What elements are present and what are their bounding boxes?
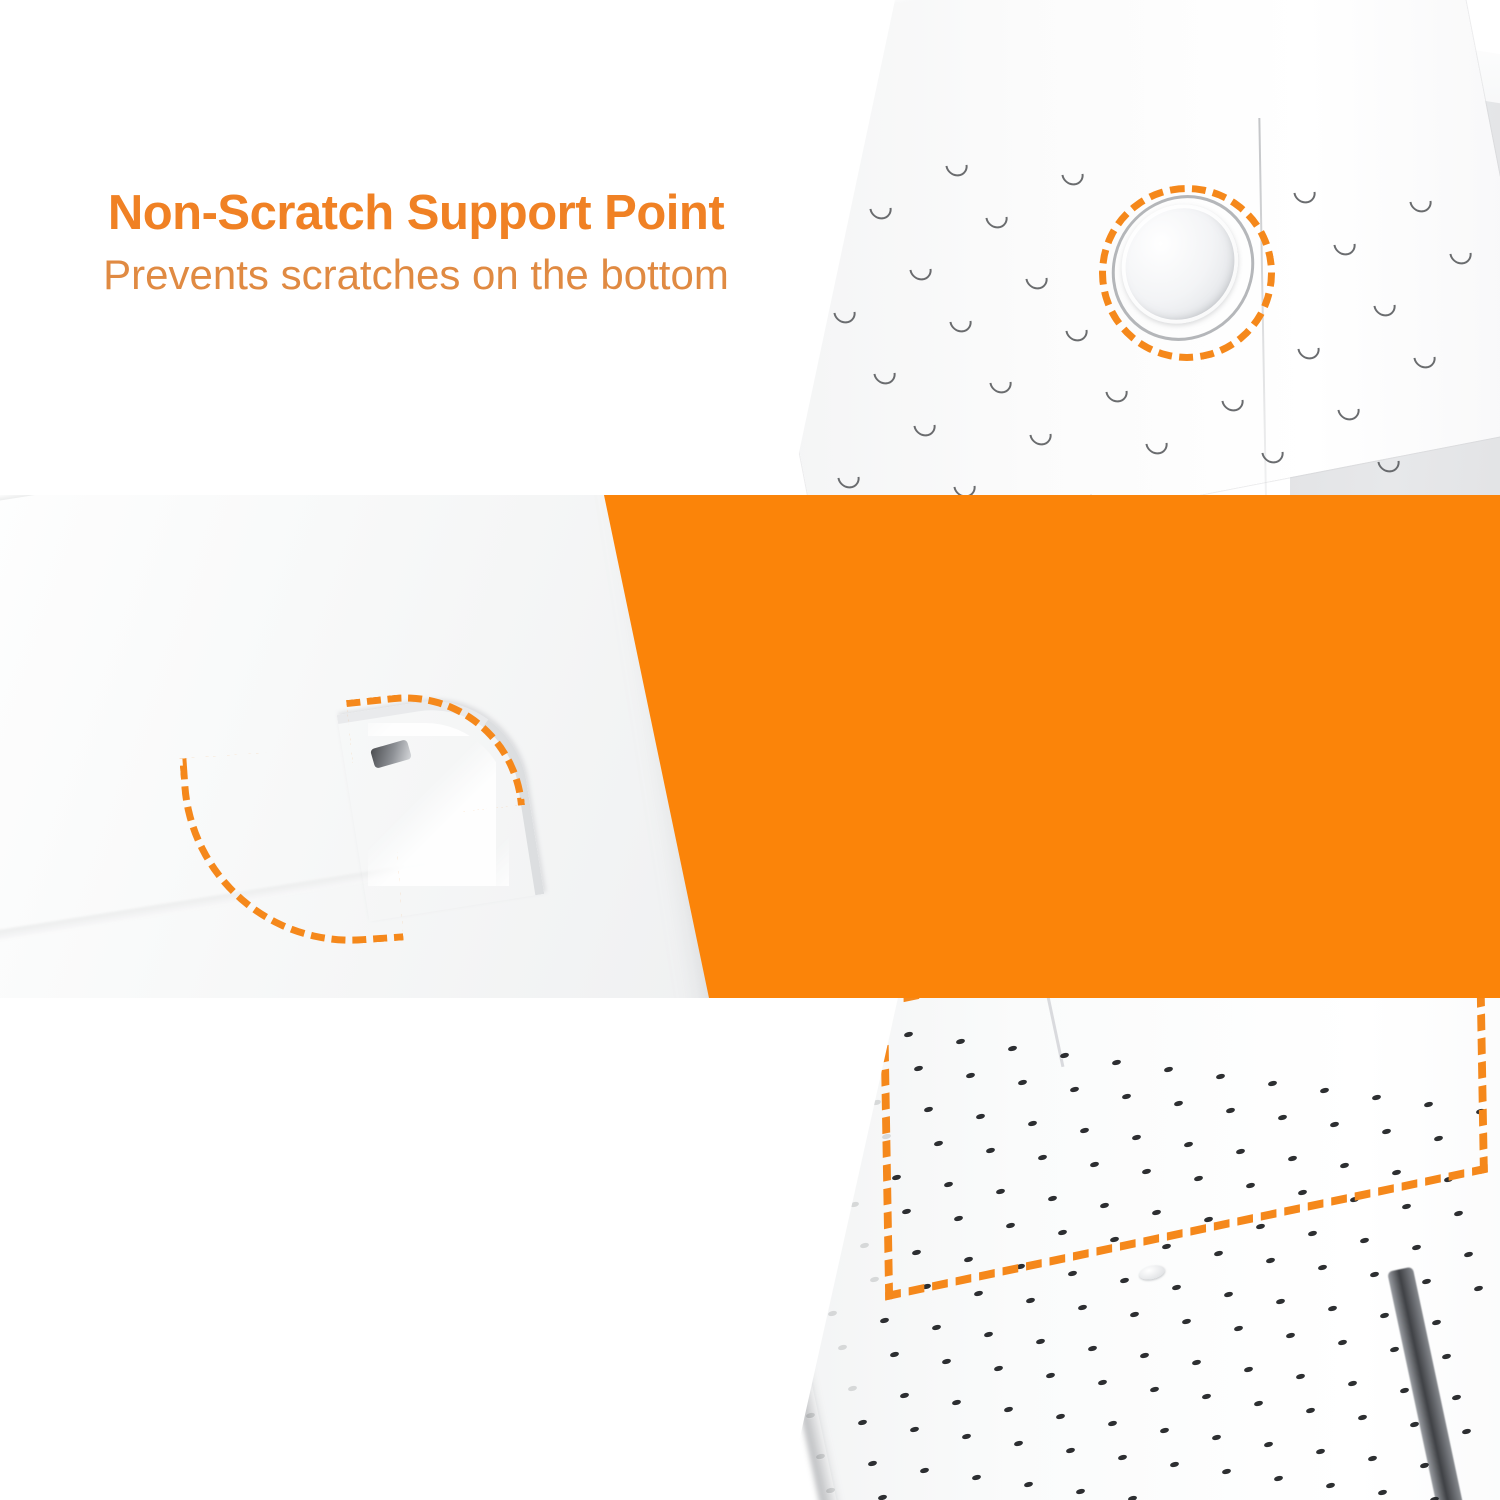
perforation-hole [830, 1126, 840, 1133]
perforation-hole [800, 1017, 810, 1024]
perforation-hole [798, 1194, 808, 1201]
feature-panel-pet-plastic: PET Plastic ultra-sturdy, so will not cr… [0, 998, 1500, 1500]
perforation-hole [808, 1235, 818, 1242]
perforation-hole [810, 1051, 820, 1058]
perforation-hook-mark [825, 141, 856, 172]
perforation-hole [796, 1378, 806, 1385]
infographic-canvas: Non-Scratch Support Point Prevents scrat… [0, 0, 1500, 1500]
perforation-hole [818, 1269, 828, 1276]
panel-subheading: Prevents scratches on the bottom [0, 251, 832, 299]
feature-panel-non-scratch-support-point: Non-Scratch Support Point Prevents scrat… [0, 0, 1500, 495]
panel-heading: Non-Scratch Support Point [0, 188, 832, 239]
product-photo-round-corner [0, 495, 1500, 998]
feature-copy-support-point: Non-Scratch Support Point Prevents scrat… [0, 188, 832, 300]
perforation-hole [862, 1058, 872, 1065]
perforation-hole [840, 1167, 850, 1174]
perforation-hole [852, 1024, 862, 1031]
feature-panel-round-corner-design: Round Corner Design Will not scratch the… [0, 495, 1500, 998]
product-photo-pet-plastic [0, 998, 1500, 1500]
perforation-hole [820, 1092, 830, 1099]
